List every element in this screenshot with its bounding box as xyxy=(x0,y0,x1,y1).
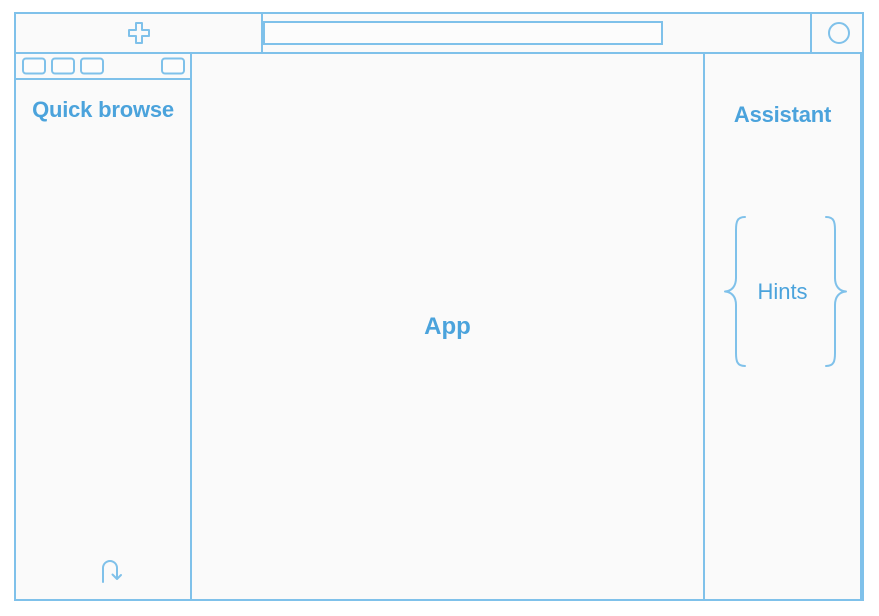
title-bar xyxy=(14,12,864,54)
sidebar-tool-3-button[interactable] xyxy=(80,58,104,75)
assistant-panel: Assistant Hints xyxy=(705,54,862,599)
curly-brace-right-icon xyxy=(822,214,848,369)
address-input[interactable] xyxy=(263,21,663,45)
sidebar-panel: Quick browse xyxy=(16,54,192,599)
window-body: Quick browse App Assistant H xyxy=(14,54,864,601)
account-zone xyxy=(812,14,866,52)
sidebar-title: Quick browse xyxy=(16,96,190,125)
sidebar-tool-4-button[interactable] xyxy=(161,58,185,75)
hints-block: Hints xyxy=(705,214,860,369)
wireframe-window: Quick browse App Assistant H xyxy=(14,12,864,601)
u-turn-arrow-icon[interactable] xyxy=(95,555,127,587)
sidebar-toolbar xyxy=(16,54,190,80)
plus-icon[interactable] xyxy=(127,21,151,45)
assistant-title: Assistant xyxy=(705,102,860,128)
address-bar-zone xyxy=(263,14,812,52)
sidebar-tool-2-button[interactable] xyxy=(51,58,75,75)
app-label: App xyxy=(192,313,703,341)
tab-strip xyxy=(16,14,263,52)
circle-avatar-icon[interactable] xyxy=(828,22,850,44)
sidebar-tool-1-button[interactable] xyxy=(22,58,46,75)
app-content-panel: App xyxy=(192,54,705,599)
